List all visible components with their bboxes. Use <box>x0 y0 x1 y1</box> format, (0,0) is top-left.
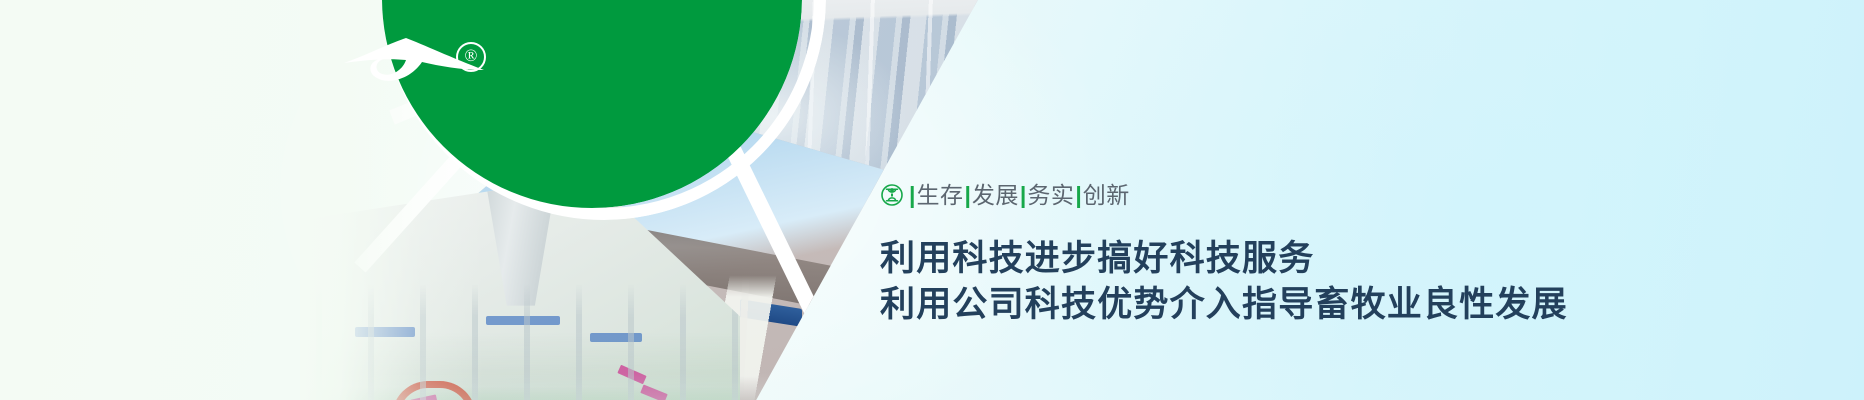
tagline-word-3: 务实 <box>1027 184 1074 207</box>
tagline-separator: | <box>1074 184 1082 207</box>
product-sachet <box>641 385 668 400</box>
banner-text-block: | 生存 | 发展 | 务实 | 创新 利用科技进步搞好科技服务 利用公司科技优… <box>880 180 1760 328</box>
registered-trademark-symbol: ® <box>456 42 486 72</box>
tagline-row: | 生存 | 发展 | 务实 | 创新 <box>880 180 1760 210</box>
tagline-word-1: 生存 <box>916 184 963 207</box>
product-sachet <box>617 365 646 385</box>
machine-blue-part <box>486 316 560 325</box>
headline-line-2: 利用公司科技优势介入指导畜牧业良性发展 <box>880 282 1760 328</box>
tagline-word-2: 发展 <box>972 184 1019 207</box>
headline-line-1: 利用科技进步搞好科技服务 <box>880 236 1760 282</box>
product-sachet <box>410 395 437 400</box>
tagline-separator: | <box>963 184 971 207</box>
shrub <box>800 351 854 400</box>
promo-banner: ® | 生存 | 发展 | 务实 | 创新 利用科技进步搞好科技服务 利用公司科… <box>0 0 1864 400</box>
tagline-separator: | <box>1019 184 1027 207</box>
tagline-word-4: 创新 <box>1083 184 1130 207</box>
green-circle-figure-icon <box>880 183 904 207</box>
window-awning <box>740 299 802 327</box>
machine-blue-part <box>355 327 415 337</box>
machine-red-hose <box>392 381 476 400</box>
machine-blue-part <box>590 333 642 342</box>
tagline-separator: | <box>908 184 916 207</box>
